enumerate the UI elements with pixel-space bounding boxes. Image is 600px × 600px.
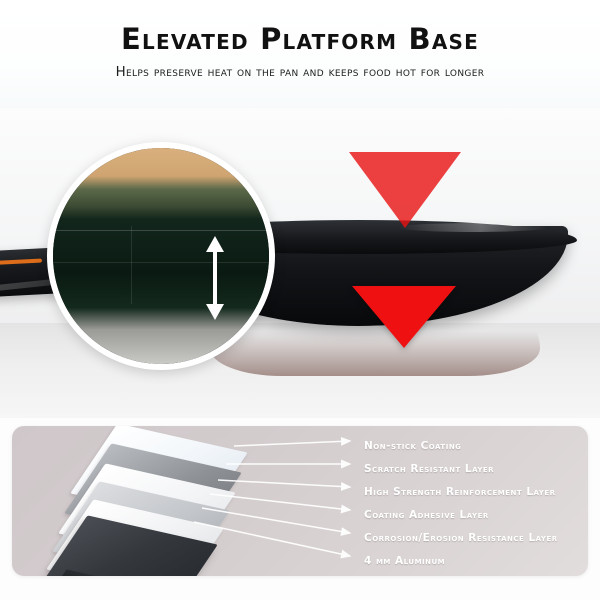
layer-label-corrosion-erosion-resistance-layer: Corrosion/Erosion Resistance Layer [364,532,558,544]
layer-label-high-strength-reinforcement-layer: High Strength Reinforcement Layer [364,486,556,498]
page-subtitle: Helps preserve heat on the pan and keeps… [0,65,600,80]
layer-label-coating-adhesive-layer: Coating Adhesive Layer [364,509,489,521]
layer-plate-6 [54,530,204,576]
magnifier-closeup-circle [47,142,275,370]
hero-product-photo [0,108,600,418]
red-triangle-pointer-top-icon [349,152,461,228]
header-band: Elevated Platform Base Helps preserve he… [0,0,600,110]
red-triangle-pointer-bottom-icon [352,286,456,348]
base-edge-line-secondary [53,262,269,263]
layer-label-list: Non-stick Coating Scratch Resistant Laye… [364,434,584,574]
layer-construction-panel: Non-stick Coating Scratch Resistant Laye… [12,426,588,576]
layer-label-scratch-resistant-layer: Scratch Resistant Layer [364,463,494,475]
height-indicator-arrow-icon [205,236,225,320]
base-seam-line [131,226,132,304]
infographic-page: Elevated Platform Base Helps preserve he… [0,0,600,600]
base-edge-line [53,230,269,231]
layer-label-non-stick-coating: Non-stick Coating [364,440,461,452]
page-title: Elevated Platform Base [0,22,600,56]
magnified-base-image [53,148,269,364]
layer-label-4-mm-aluminum: 4 mm Aluminum [364,555,445,567]
exploded-layer-stack [48,434,283,574]
